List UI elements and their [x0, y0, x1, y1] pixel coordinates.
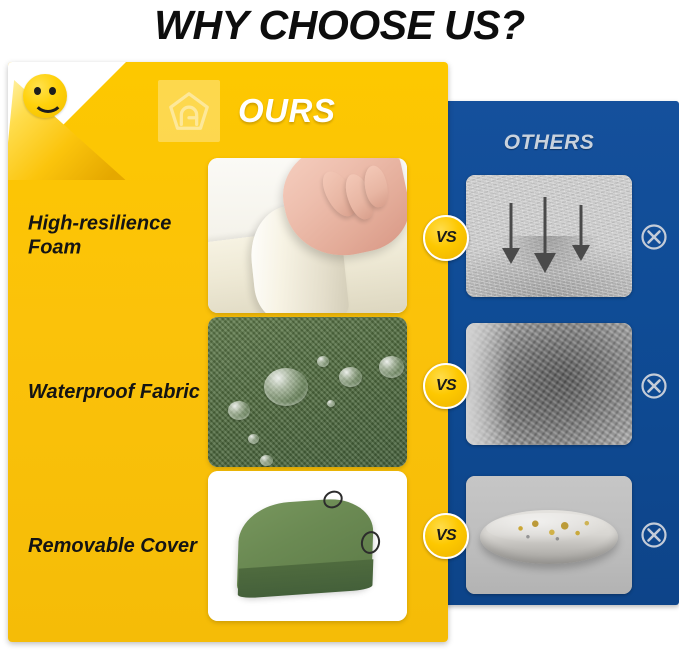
water-droplet	[379, 356, 404, 378]
water-droplet	[339, 367, 362, 387]
page-title: WHY CHOOSE US?	[0, 2, 679, 49]
vs-badge: VS	[423, 513, 469, 559]
feature-label: High-resilience Foam	[28, 211, 208, 260]
circled-x-icon	[640, 372, 668, 400]
water-droplet	[260, 455, 273, 466]
feature-label: Removable Cover	[28, 534, 208, 558]
others-photo-stained-cushion	[466, 476, 632, 594]
feature-row-fabric: Waterproof Fabric	[8, 317, 448, 467]
water-droplet	[228, 401, 250, 420]
feature-label: Waterproof Fabric	[28, 380, 208, 404]
ours-heading: OURS	[238, 92, 335, 130]
stain-marks	[504, 518, 596, 544]
ours-photo-foam	[208, 158, 407, 313]
ours-panel: OURS High-resilience Foam Waterproof Fab…	[8, 62, 448, 642]
water-droplet	[264, 368, 308, 406]
water-droplet	[248, 434, 259, 444]
vs-badge: VS	[423, 363, 469, 409]
circled-x-icon	[640, 223, 668, 251]
circled-x-icon	[640, 521, 668, 549]
green-fabric-texture	[208, 317, 407, 467]
feature-row-cover: Removable Cover	[8, 471, 448, 621]
feature-row-foam: High-resilience Foam	[8, 158, 448, 313]
others-heading: OTHERS	[444, 131, 654, 155]
ours-photo-fabric	[208, 317, 407, 467]
others-photo-wet-fabric	[466, 323, 632, 445]
smiley-face-icon	[23, 74, 67, 118]
ours-photo-cushion	[208, 471, 407, 621]
house-pentagon-logo-icon	[158, 80, 220, 142]
others-panel: OTHERS	[444, 101, 679, 605]
others-photo-sagging-fiber	[466, 175, 632, 297]
vs-badge: VS	[423, 215, 469, 261]
ours-header: OURS	[158, 80, 335, 142]
water-droplet	[327, 400, 335, 407]
wet-fabric-highlight	[466, 323, 509, 445]
